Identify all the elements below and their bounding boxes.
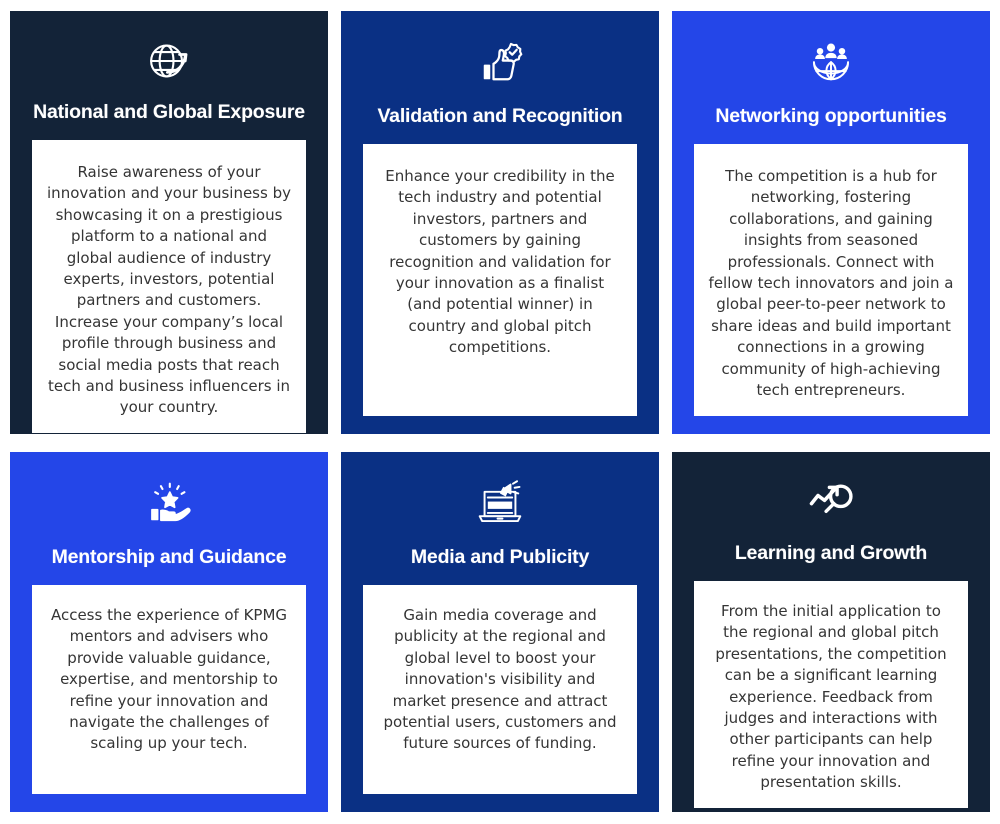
benefit-card-national-and-global-exposure[interactable]: National and Global Exposure Raise aware… [10, 11, 328, 434]
card-body-text: Enhance your credibility in the tech ind… [377, 166, 623, 359]
benefit-card-validation-and-recognition[interactable]: Validation and Recognition Enhance your … [341, 11, 659, 434]
card-body-box: Access the experience of KPMG mentors an… [32, 585, 306, 794]
magnifier-growth-arrow-icon [805, 476, 857, 528]
globe-arrow-icon [143, 35, 195, 87]
card-title: Learning and Growth [735, 542, 927, 565]
card-body-text: Gain media coverage and publicity at the… [377, 605, 623, 755]
benefit-card-learning-and-growth[interactable]: Learning and Growth From the initial app… [672, 452, 990, 812]
card-body-box: Raise awareness of your innovation and y… [32, 140, 306, 433]
card-body-text: Access the experience of KPMG mentors an… [46, 605, 292, 755]
benefits-card-grid: National and Global Exposure Raise aware… [0, 0, 1000, 824]
card-title: Networking opportunities [715, 105, 946, 128]
card-body-box: From the initial application to the regi… [694, 581, 968, 808]
card-title: Validation and Recognition [377, 105, 622, 128]
card-body-text: The competition is a hub for networking,… [708, 166, 954, 401]
card-body-text: From the initial application to the regi… [708, 601, 954, 794]
card-title: National and Global Exposure [33, 101, 305, 124]
card-body-box: The competition is a hub for networking,… [694, 144, 968, 416]
benefit-card-networking-opportunities[interactable]: Networking opportunities The competition… [672, 11, 990, 434]
globe-people-network-icon [805, 35, 857, 91]
card-body-box: Enhance your credibility in the tech ind… [363, 144, 637, 416]
card-body-text: Raise awareness of your innovation and y… [46, 162, 292, 419]
benefit-card-media-and-publicity[interactable]: Media and Publicity Gain media coverage … [341, 452, 659, 812]
card-title: Mentorship and Guidance [52, 546, 287, 569]
card-title: Media and Publicity [411, 546, 589, 569]
benefit-card-mentorship-and-guidance[interactable]: Mentorship and Guidance Access the exper… [10, 452, 328, 812]
hand-holding-star-icon [143, 476, 195, 532]
thumbs-up-verified-icon [474, 35, 526, 91]
card-body-box: Gain media coverage and publicity at the… [363, 585, 637, 794]
laptop-megaphone-icon [474, 476, 526, 532]
